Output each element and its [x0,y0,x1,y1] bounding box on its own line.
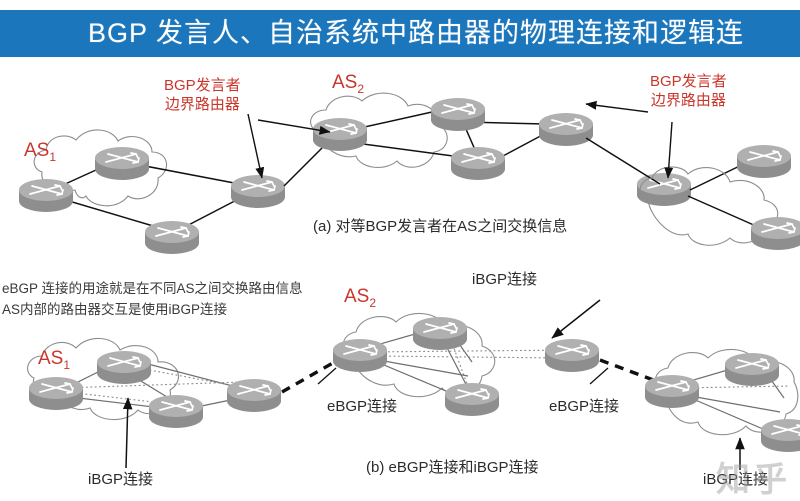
as1-links-a [52,160,252,232]
router-icon [97,351,151,384]
router-icon [737,145,791,178]
callout-bgp-speaker-right: BGP发言者 边界路由器 [650,72,727,110]
ibgp-label-left: iBGP连接 [88,468,153,489]
router-icon [145,221,199,254]
as3-routers-a [737,145,800,250]
as-label-as1-figure-b: AS1 [38,348,70,372]
as1-ibgp-mesh [64,366,246,404]
callout-bgp-speaker-left: BGP发言者 边界路由器 [164,76,241,114]
router-icon [451,147,505,180]
router-icon [227,379,281,412]
router-icon [545,339,599,372]
router-icon [149,395,203,428]
router-icon-bgp-speaker-right2 [637,173,691,206]
as-label-as1-figure-a: AS1 [24,140,56,164]
note-line-2: AS内部的路由器交互是使用iBGP连接 [2,299,303,320]
router-icon-bgp-speaker-right [539,113,593,146]
router-icon [725,353,779,386]
router-icon [445,383,499,416]
router-icon [761,419,800,452]
as2-routers-a [313,98,505,180]
ebgp-label-right: eBGP连接 [549,395,619,416]
explanatory-note: eBGP 连接的用途就是在不同AS之间交换路由信息 AS内部的路由器交互是使用i… [2,278,303,320]
router-icon-bgp-speaker-left [231,175,285,208]
ebgp-label-left: eBGP连接 [327,395,397,416]
figure-a-caption: (a) 对等BGP发言者在AS之间交换信息 [313,215,567,236]
figure-b-caption: (b) eBGP连接和iBGP连接 [366,456,539,477]
as-label-as2-figure-b: AS2 [344,286,376,310]
figure-b-graphics [28,300,800,470]
router-icon [19,179,73,212]
slide-canvas: BGP 发言人、自治系统中路由器的物理连接和逻辑连 [0,0,800,500]
callout-line-1: BGP发言者 [650,72,727,91]
router-icon [645,375,699,408]
callout-line-2: 边界路由器 [650,91,727,110]
router-icon [29,377,83,410]
router-icon [751,217,800,250]
router-icon [95,147,149,180]
router-icon [313,118,367,151]
zhihu-watermark: 知乎 [716,452,790,501]
as2-ibgp-mesh [366,332,572,392]
router-icon [431,98,485,131]
note-line-1: eBGP 连接的用途就是在不同AS之间交换路由信息 [2,278,303,299]
router-icon [333,339,387,372]
callout-line-1: BGP发言者 [164,76,241,95]
callout-line-2: 边界路由器 [164,95,241,114]
as-label-as2-figure-a: AS2 [332,72,364,96]
router-icon [413,317,467,350]
ibgp-label-middle: iBGP连接 [472,268,537,289]
